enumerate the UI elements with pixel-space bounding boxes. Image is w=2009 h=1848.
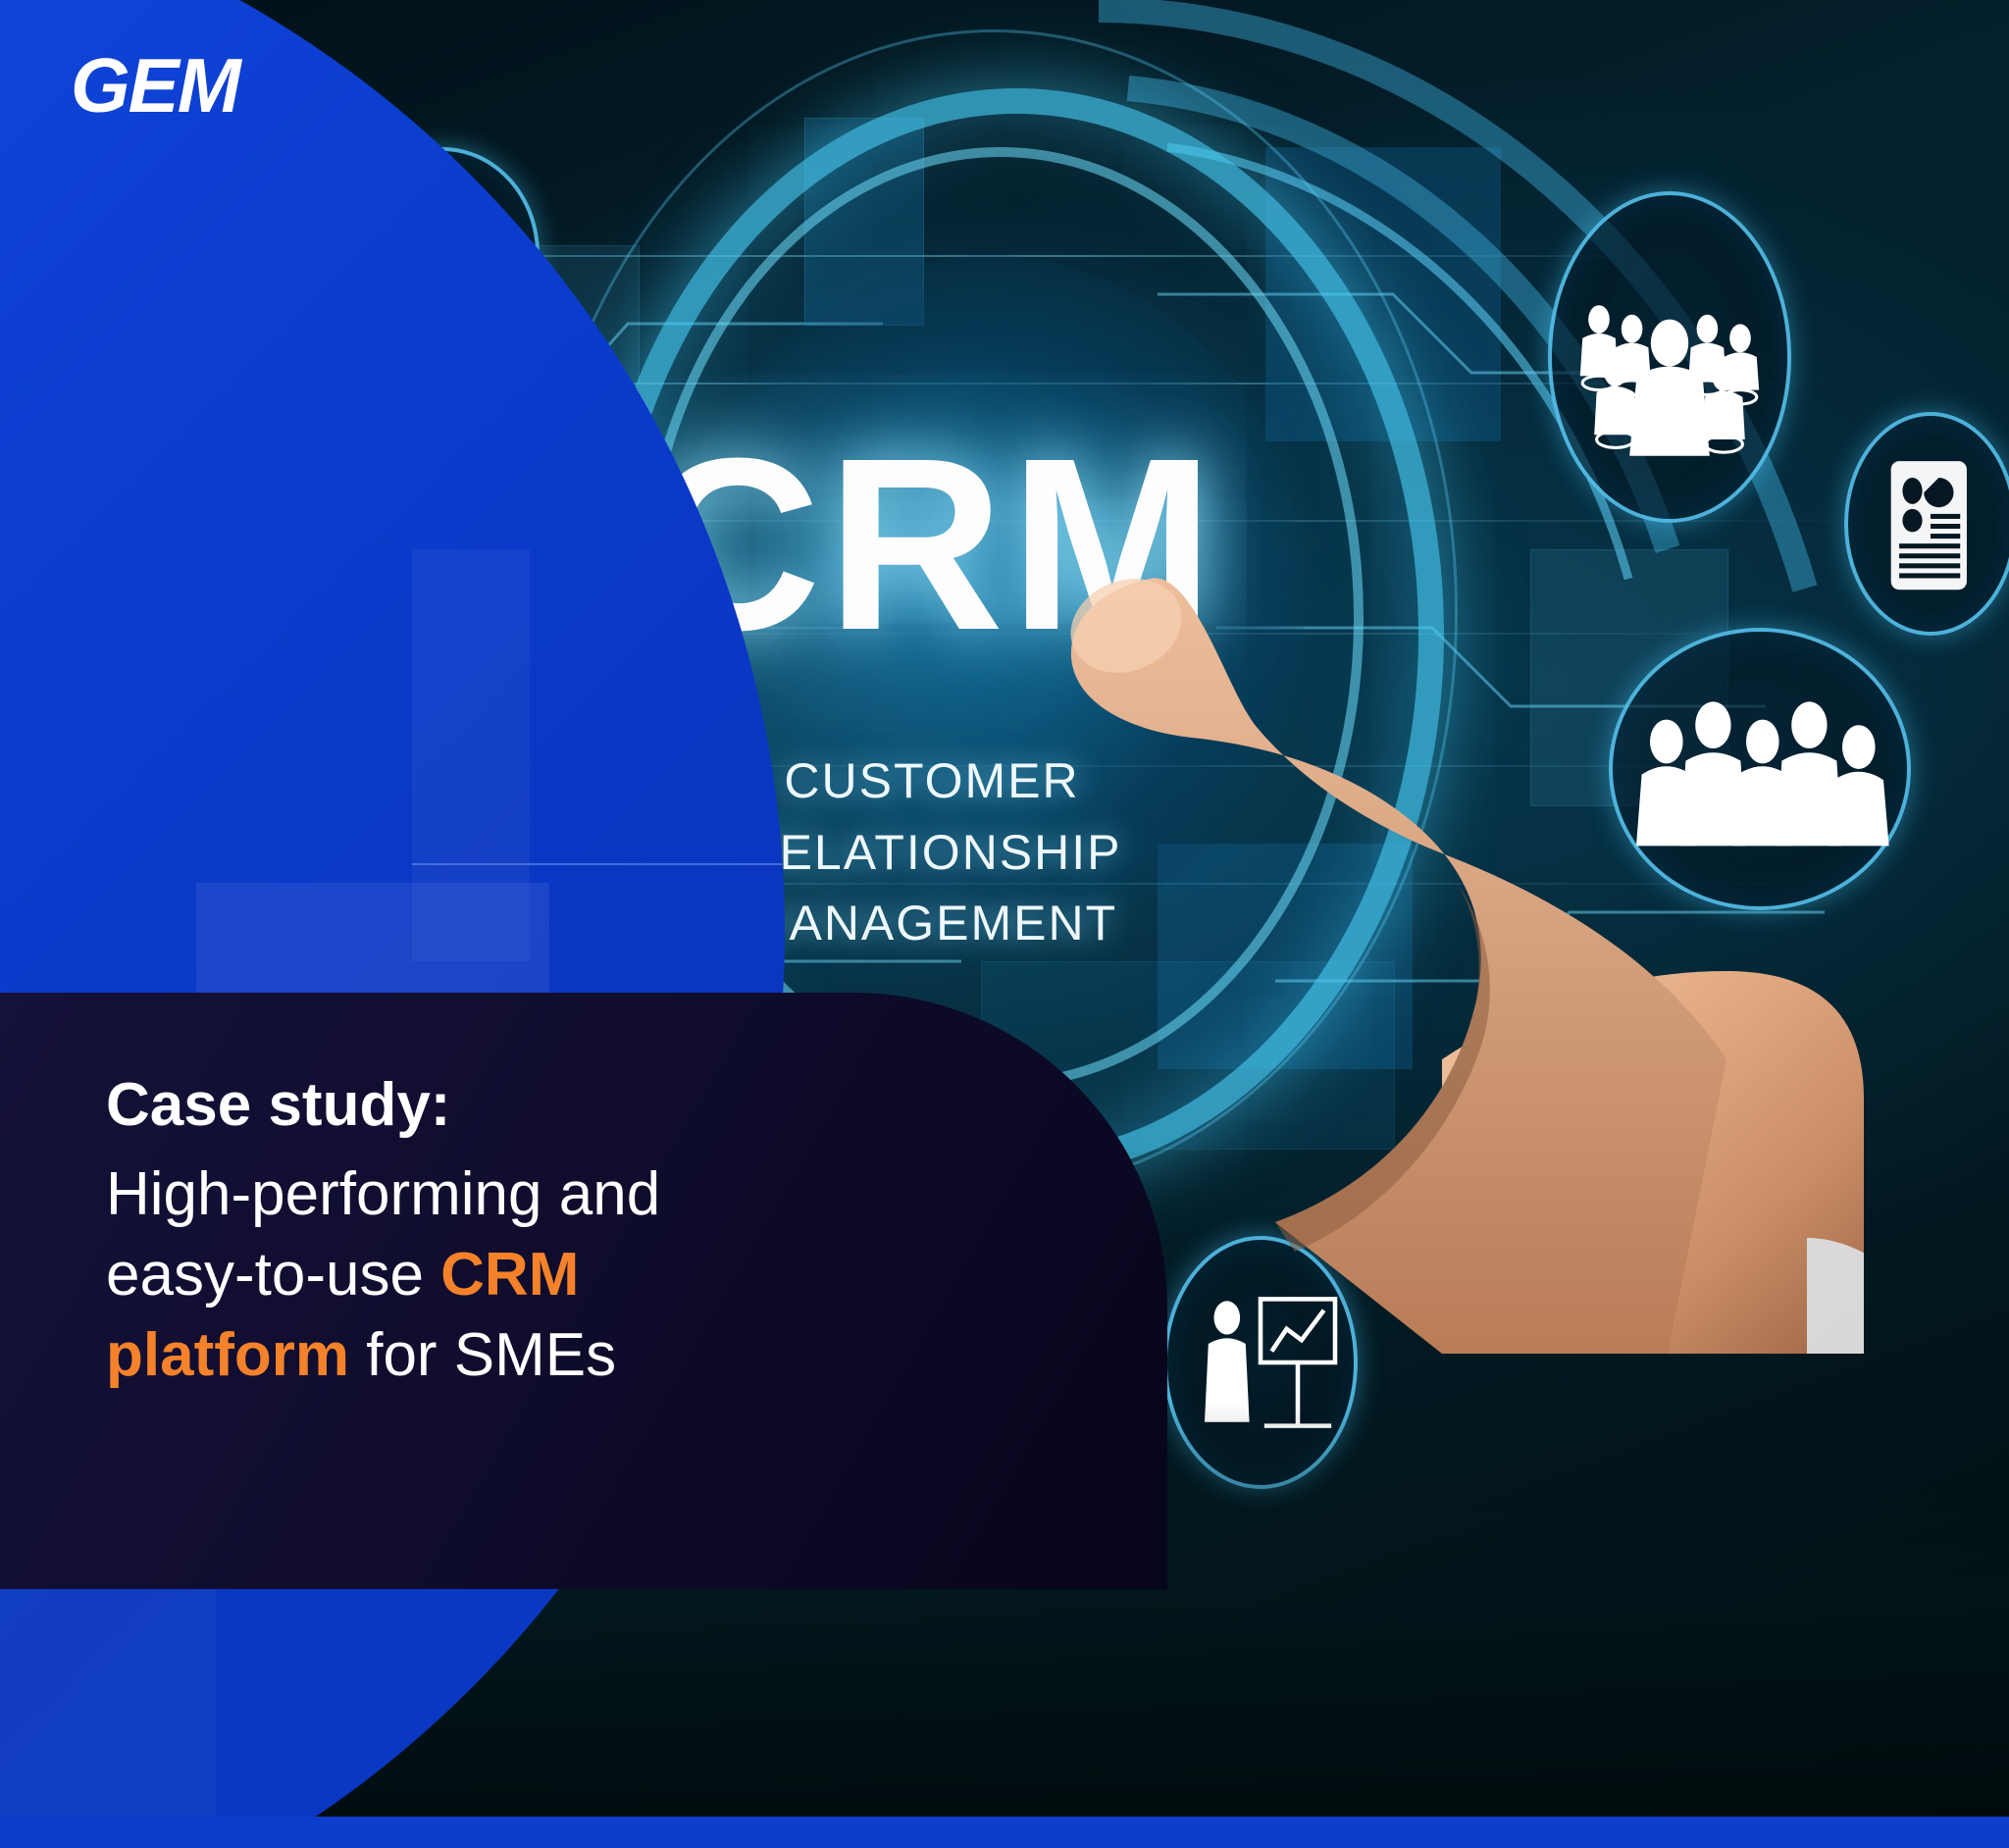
caption-body: High-performing and easy-to-use CRM plat… xyxy=(106,1155,989,1395)
caption-inner: Case study: High-performing and easy-to-… xyxy=(106,1069,989,1396)
gem-logo[interactable]: GEM xyxy=(71,41,239,130)
caption-line-2-plain: easy-to-use xyxy=(106,1241,440,1309)
caption-line-2-highlight: CRM xyxy=(440,1241,579,1309)
caption-line-3-plain: for SMEs xyxy=(349,1321,616,1389)
bottom-brand-strip xyxy=(0,1817,2009,1848)
people-group-icon xyxy=(1548,191,1791,523)
caption-line-3-highlight: platform xyxy=(106,1321,349,1389)
caption-panel: Case study: High-performing and easy-to-… xyxy=(0,993,1167,1589)
caption-line-1: High-performing and xyxy=(106,1160,660,1228)
profile-document-icon xyxy=(1844,412,2009,636)
poster-canvas: CRM CUSTOMER RELATIONSHIP MANAGEMENT xyxy=(0,0,2009,1848)
caption-kicker: Case study: xyxy=(106,1069,989,1141)
